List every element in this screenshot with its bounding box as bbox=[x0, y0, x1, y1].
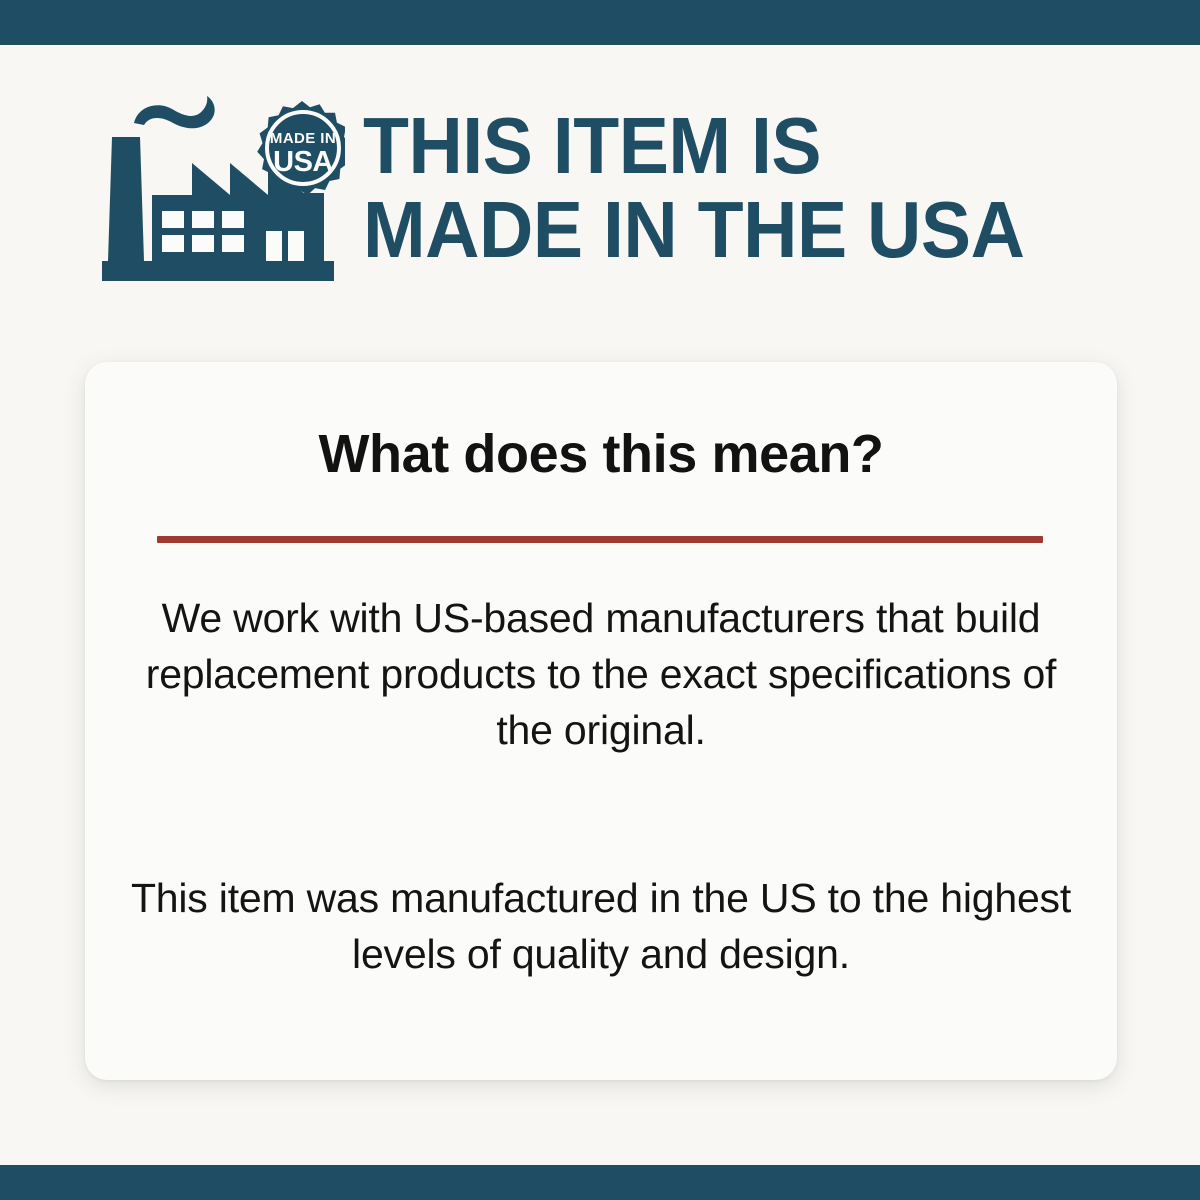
banner-title-line-1: THIS ITEM IS bbox=[363, 104, 1024, 188]
made-in-usa-banner: MADE IN USA THIS ITEM IS MADE IN THE USA… bbox=[0, 0, 1200, 1200]
banner-title: THIS ITEM IS MADE IN THE USA bbox=[363, 104, 1067, 272]
seal-line-1: MADE IN bbox=[270, 130, 336, 147]
explanation-card: What does this mean? We work with US-bas… bbox=[85, 362, 1117, 1080]
card-heading: What does this mean? bbox=[85, 424, 1117, 484]
card-paragraph-2: This item was manufactured in the US to … bbox=[125, 870, 1077, 982]
top-accent-band bbox=[0, 0, 1200, 45]
banner-title-line-2: MADE IN THE USA bbox=[363, 188, 1024, 272]
card-paragraph-1: We work with US-based manufacturers that… bbox=[125, 590, 1077, 758]
factory-logo: MADE IN USA bbox=[100, 93, 345, 283]
card-divider bbox=[157, 536, 1043, 543]
factory-icon: MADE IN USA bbox=[100, 93, 345, 283]
banner-header: MADE IN USA THIS ITEM IS MADE IN THE USA bbox=[0, 78, 1200, 298]
bottom-accent-band bbox=[0, 1165, 1200, 1200]
seal-line-2: USA bbox=[273, 146, 333, 178]
